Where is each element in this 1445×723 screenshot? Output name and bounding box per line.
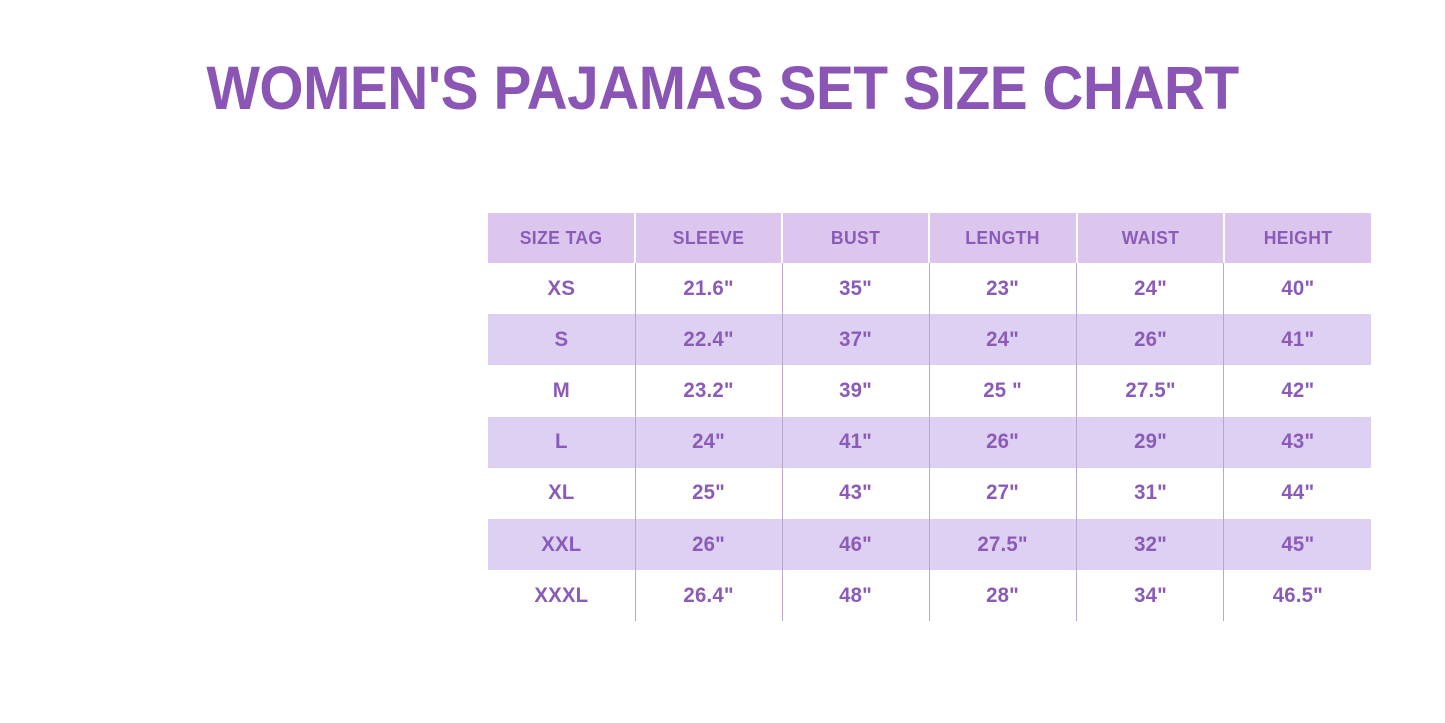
cell-size-tag: XL [490, 468, 633, 519]
cell-sleeve: 26" [637, 519, 780, 570]
cell-waist: 27.5" [1079, 365, 1222, 416]
cell-bust: 43" [785, 468, 928, 519]
cell-bust: 46" [785, 519, 928, 570]
column-header-waist: WAIST [1080, 213, 1220, 263]
cell-waist: 24" [1079, 263, 1222, 314]
table-header-row: SIZE TAG SLEEVE BUST LENGTH WAIST HEIGHT [488, 213, 1371, 263]
cell-height: 43" [1226, 417, 1369, 468]
cell-waist: 26" [1079, 314, 1222, 365]
cell-height: 41" [1226, 314, 1369, 365]
cell-length: 28" [932, 570, 1075, 621]
column-header-bust: BUST [786, 213, 926, 263]
column-header-sleeve: SLEEVE [639, 213, 779, 263]
cell-length: 26" [932, 417, 1075, 468]
cell-bust: 41" [785, 417, 928, 468]
cell-waist: 31" [1079, 468, 1222, 519]
table-body: XS 21.6" 35" 23" 24" 40" S 22.4" 37" 24"… [488, 263, 1371, 621]
cell-waist: 34" [1079, 570, 1222, 621]
table-row: M 23.2" 39" 25 " 27.5" 42" [488, 365, 1371, 416]
cell-height: 40" [1226, 263, 1369, 314]
cell-height: 45" [1226, 519, 1369, 570]
size-chart-table: SIZE TAG SLEEVE BUST LENGTH WAIST HEIGHT… [488, 213, 1371, 621]
cell-size-tag: XS [490, 263, 633, 314]
cell-size-tag: M [490, 365, 633, 416]
size-chart-page: WOMEN'S PAJAMAS SET SIZE CHART SIZE TAG … [0, 0, 1445, 723]
cell-size-tag: XXXL [490, 570, 633, 621]
column-header-height: HEIGHT [1227, 213, 1367, 263]
cell-sleeve: 22.4" [637, 314, 780, 365]
table-row: XS 21.6" 35" 23" 24" 40" [488, 263, 1371, 314]
cell-sleeve: 21.6" [637, 263, 780, 314]
table-row: L 24" 41" 26" 29" 43" [488, 417, 1371, 468]
cell-sleeve: 24" [637, 417, 780, 468]
cell-sleeve: 23.2" [637, 365, 780, 416]
table-header: SIZE TAG SLEEVE BUST LENGTH WAIST HEIGHT [488, 213, 1371, 263]
cell-height: 46.5" [1226, 570, 1369, 621]
cell-bust: 37" [785, 314, 928, 365]
cell-length: 24" [932, 314, 1075, 365]
cell-bust: 35" [785, 263, 928, 314]
cell-length: 23" [932, 263, 1075, 314]
cell-length: 25 " [932, 365, 1075, 416]
cell-size-tag: S [490, 314, 633, 365]
cell-height: 42" [1226, 365, 1369, 416]
table-row: XXXL 26.4" 48" 28" 34" 46.5" [488, 570, 1371, 621]
column-header-length: LENGTH [933, 213, 1073, 263]
cell-sleeve: 26.4" [637, 570, 780, 621]
cell-height: 44" [1226, 468, 1369, 519]
cell-waist: 29" [1079, 417, 1222, 468]
column-header-size-tag: SIZE TAG [492, 213, 632, 263]
cell-size-tag: XXL [490, 519, 633, 570]
table-row: S 22.4" 37" 24" 26" 41" [488, 314, 1371, 365]
cell-bust: 48" [785, 570, 928, 621]
page-title: WOMEN'S PAJAMAS SET SIZE CHART [51, 52, 1395, 124]
cell-length: 27.5" [932, 519, 1075, 570]
cell-sleeve: 25" [637, 468, 780, 519]
cell-bust: 39" [785, 365, 928, 416]
table-row: XXL 26" 46" 27.5" 32" 45" [488, 519, 1371, 570]
table-row: XL 25" 43" 27" 31" 44" [488, 468, 1371, 519]
cell-waist: 32" [1079, 519, 1222, 570]
cell-size-tag: L [490, 417, 633, 468]
cell-length: 27" [932, 468, 1075, 519]
